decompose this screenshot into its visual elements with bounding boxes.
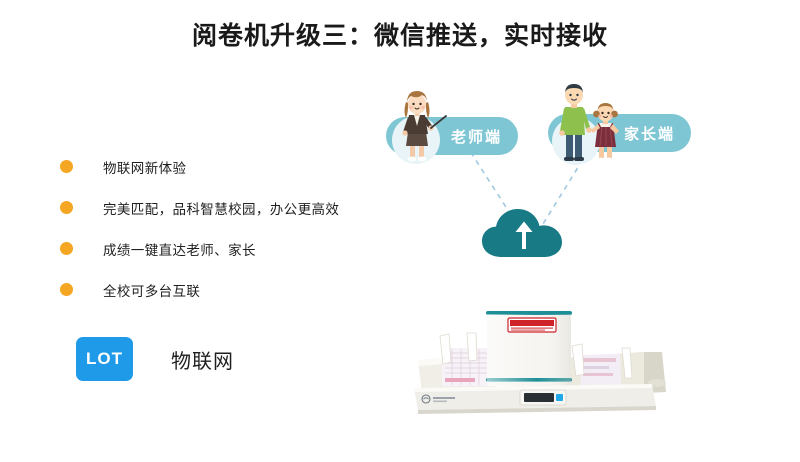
scanner-machine	[404, 300, 696, 420]
iot-badge-block: LOT 物联网	[76, 337, 234, 381]
list-item: 成绩一键直达老师、家长	[60, 228, 390, 269]
list-item: 完美匹配，品科智慧校园，办公更高效	[60, 187, 390, 228]
iot-label: 物联网	[171, 345, 234, 374]
node-parent-label: 家长端	[624, 123, 691, 144]
teacher-figure	[386, 88, 458, 168]
bullet-list: 物联网新体验 完美匹配，品科智慧校园，办公更高效 成绩一键直达老师、家长 全校可…	[60, 146, 390, 310]
bullet-dot-icon	[60, 283, 73, 296]
page-title: 阅卷机升级三：微信推送，实时接收	[0, 16, 800, 52]
iot-badge-text: LOT	[86, 349, 123, 369]
bullet-text: 全校可多台互联	[103, 280, 200, 300]
bullet-text: 物联网新体验	[103, 157, 186, 177]
bullet-text: 完美匹配，品科智慧校园，办公更高效	[103, 198, 339, 218]
bullet-dot-icon	[60, 160, 73, 173]
list-item: 物联网新体验	[60, 146, 390, 187]
slide-canvas: 阅卷机升级三：微信推送，实时接收 物联网新体验 完美匹配，品科智慧校园，办公更高…	[0, 0, 800, 462]
bullet-dot-icon	[60, 201, 73, 214]
cloud-upload-icon	[478, 203, 570, 265]
list-item: 全校可多台互联	[60, 269, 390, 310]
node-teacher-label: 老师端	[451, 126, 518, 147]
bullet-dot-icon	[60, 242, 73, 255]
parent-and-child-figure	[550, 83, 628, 169]
bullet-text: 成绩一键直达老师、家长	[103, 239, 256, 259]
iot-badge-icon: LOT	[76, 337, 133, 381]
